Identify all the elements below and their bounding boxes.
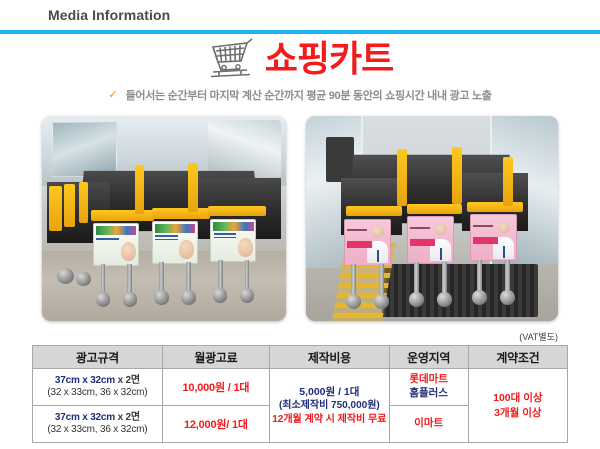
production-cost-line2: (최소제작비 750,000원) — [270, 399, 389, 413]
ad-spec-main-row1: 37cm x 32cm x 2면 — [33, 375, 162, 388]
header-accent-bar — [0, 30, 600, 34]
ad-spec-sub-row2: (32 x 33cm, 36 x 32cm) — [33, 424, 162, 437]
column-header-operating-area: 운영지역 — [389, 346, 468, 369]
cell-monthly-fee-row1: 10,000원 / 1대 — [162, 369, 269, 406]
contract-terms-line1: 100대 이상 — [469, 391, 567, 406]
table-row: 37cm x 32cm x 2면 (32 x 33cm, 36 x 32cm) … — [33, 369, 568, 406]
operating-area-lottemart: 롯데마트 — [390, 373, 468, 387]
shopping-carts-green-ad-photo — [42, 116, 286, 321]
rate-table: 광고규격 월광고료 제작비용 운영지역 계약조건 37cm x 32cm x 2… — [32, 345, 568, 443]
shopping-carts-pink-ad-photo — [306, 116, 558, 321]
production-cost-line3: 12개월 계약 시 제작비 무료 — [270, 413, 389, 427]
table-header-row: 광고규격 월광고료 제작비용 운영지역 계약조건 — [33, 346, 568, 369]
ad-spec-main-row2: 37cm x 32cm x 2면 — [33, 412, 162, 425]
tagline-text: 들어서는 순간부터 마지막 계산 순간까지 평균 90분 동안의 쇼핑시간 내내… — [126, 90, 492, 102]
slide-title: 쇼핑카트 — [265, 42, 393, 78]
cell-operating-area-row2: 이마트 — [389, 406, 468, 443]
monthly-fee-row2: 12,000원/ 1대 — [163, 416, 269, 432]
column-header-ad-spec: 광고규격 — [33, 346, 163, 369]
check-icon: ✓ — [108, 89, 117, 101]
slide-title-row: 쇼핑카트 — [0, 36, 600, 84]
cell-operating-area-row1: 롯데마트 홈플러스 — [389, 369, 468, 406]
contract-terms-line2: 3개월 이상 — [469, 406, 567, 421]
cell-monthly-fee-row2: 12,000원/ 1대 — [162, 406, 269, 443]
cell-production-cost: 5,000원 / 1대 (최소제작비 750,000원) 12개월 계약 시 제… — [270, 369, 390, 443]
page-title: Media Information — [48, 7, 170, 23]
operating-area-emart: 이마트 — [390, 417, 468, 431]
production-cost-line1: 5,000원 / 1대 — [270, 385, 389, 399]
page-header: Media Information — [0, 0, 600, 31]
tagline-row: ✓들어서는 순간부터 마지막 계산 순간까지 평균 90분 동안의 쇼핑시간 내… — [0, 86, 600, 104]
cell-ad-spec-row1: 37cm x 32cm x 2면 (32 x 33cm, 36 x 32cm) — [33, 369, 163, 406]
column-header-production-cost: 제작비용 — [270, 346, 390, 369]
operating-area-homeplus: 홈플러스 — [390, 387, 468, 401]
column-header-contract-terms: 계약조건 — [468, 346, 567, 369]
vat-note: (VAT별도) — [519, 330, 558, 343]
cell-ad-spec-row2: 37cm x 32cm x 2면 (32 x 33cm, 36 x 32cm) — [33, 406, 163, 443]
monthly-fee-row1: 10,000원 / 1대 — [163, 379, 269, 395]
shopping-cart-icon — [207, 37, 259, 83]
cell-contract-terms: 100대 이상 3개월 이상 — [468, 369, 567, 443]
ad-spec-sub-row1: (32 x 33cm, 36 x 32cm) — [33, 387, 162, 400]
column-header-monthly-fee: 월광고료 — [162, 346, 269, 369]
